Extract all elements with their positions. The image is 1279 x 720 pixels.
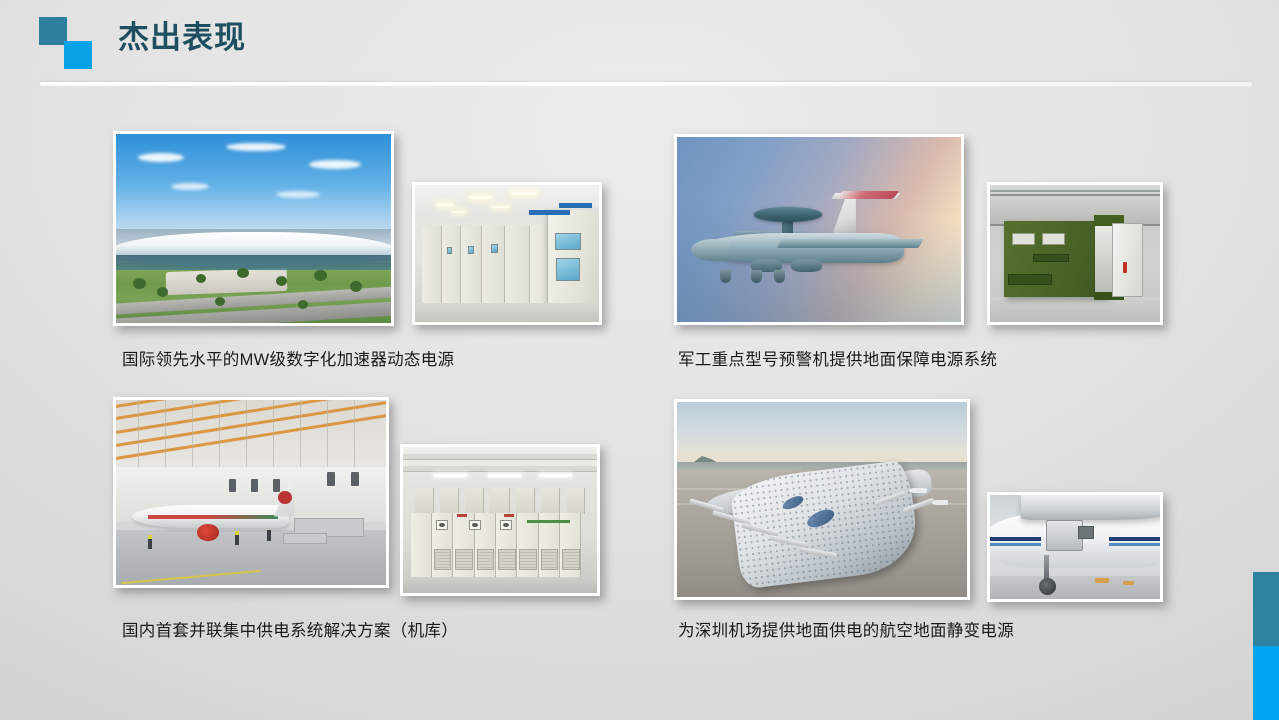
photo-military-shelter <box>987 182 1163 325</box>
edge-accent-top <box>1253 572 1279 646</box>
caption-group-4: 为深圳机场提供地面供电的航空地面静变电源 <box>678 621 1014 641</box>
photo-shenzhen-airport <box>674 399 970 600</box>
photo-stadium-aerial <box>113 131 394 326</box>
teal-square-icon <box>39 17 67 45</box>
slide-header: 杰出表现 <box>0 0 1279 92</box>
photo-aircraft-hangar <box>113 397 389 588</box>
caption-group-3: 国内首套并联集中供电系统解决方案（机库） <box>122 621 458 641</box>
caption-group-2: 军工重点型号预警机提供地面保障电源系统 <box>678 350 997 370</box>
page-title: 杰出表现 <box>118 18 246 58</box>
edge-accent-bottom <box>1253 646 1279 720</box>
caption-group-1: 国际领先水平的MW级数字化加速器动态电源 <box>122 350 454 370</box>
photo-switchgear-corridor <box>412 182 602 325</box>
blue-square-icon <box>64 41 92 69</box>
photo-awacs-aircraft <box>674 134 964 325</box>
header-divider <box>40 82 1252 85</box>
photo-aircraft-belly <box>987 492 1163 602</box>
photo-power-cabinet-room <box>400 444 600 596</box>
